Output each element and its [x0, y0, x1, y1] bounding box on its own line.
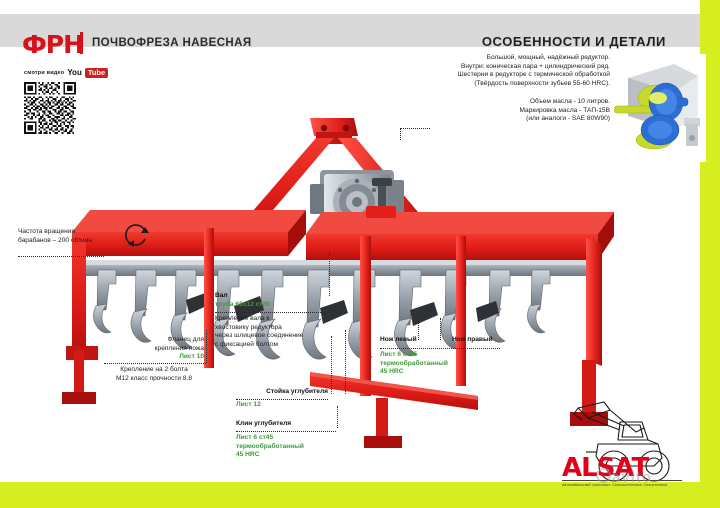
- callout-knife-left-label: Нож левый: [380, 336, 417, 345]
- leader-line-stand: [236, 399, 328, 400]
- brand-logo-frn: ФРН: [22, 32, 83, 57]
- callout-wedge: Клин углубителя: [236, 420, 340, 429]
- callout-knife-spec: Лист 6 ст45 термообработанный 45 HRC: [380, 351, 490, 377]
- callout-gearbox: Большой, мощный, надёжный редуктор. Внут…: [380, 54, 610, 88]
- gearbox-cutaway-image: [614, 54, 706, 162]
- callout-knife-right-label: Нож правый: [452, 336, 493, 345]
- callout-wedge-spec2: термообработанный: [236, 443, 346, 452]
- callout-shaft-body3: через шлицевое соединение: [215, 332, 333, 341]
- callout-knife-spec2: термообработанный: [380, 360, 490, 369]
- callout-flange-line2: крепления ножа: [112, 345, 204, 354]
- leader-line-wedge: [236, 431, 336, 432]
- callout-flange: Фланец для крепления ножа Лист 10: [112, 336, 204, 362]
- leader-line-shaft: [215, 312, 327, 313]
- leader-line-knife-vert2: [440, 318, 441, 340]
- callout-knife-spec1: Лист 6 ст45: [380, 351, 490, 360]
- leader-line-oil: [400, 128, 430, 129]
- callout-wedge-spec3: 45 HRC: [236, 451, 346, 460]
- avito-watermark-text: avito: [612, 469, 652, 486]
- callout-gearbox-line1: Большой, мощный, надёжный редуктор.: [380, 54, 610, 63]
- callout-rotation-speed: Частота вращения барабанов – 200 об/мин: [18, 228, 122, 245]
- callout-stand-spec: Лист 12: [236, 401, 332, 410]
- callout-rotation-line1: Частота вращения: [18, 228, 122, 237]
- leader-line-stand-vert: [331, 336, 332, 394]
- youtube-you-text: You: [67, 69, 82, 77]
- callout-oil-line1: Объем масла - 10 литров.: [400, 98, 610, 107]
- youtube-label-row: смотри видео You Tube: [24, 68, 108, 78]
- callout-wedge-title: Клин углубителя: [236, 420, 340, 429]
- callout-shaft: Вал труба 68х12 ст20: [215, 292, 331, 309]
- leader-line-flange-vert: [206, 330, 207, 363]
- avito-watermark: avito: [596, 468, 652, 486]
- page-header: ФРН ПОЧВОФРЕЗА НАВЕСНАЯ ОСОБЕННОСТИ И ДЕ…: [0, 14, 700, 47]
- callout-shaft-spec: труба 68х12 ст20: [215, 301, 331, 310]
- callout-stand-title: Стойка углубителя: [232, 388, 328, 397]
- callout-gearbox-line4: (Твёрдость поверхности зубьев 55-60 HRC)…: [380, 80, 610, 89]
- youtube-tube-badge: Tube: [85, 68, 108, 78]
- leader-line-knife-vert1: [418, 320, 419, 340]
- page-title: ОСОБЕННОСТИ И ДЕТАЛИ: [482, 35, 666, 49]
- callout-oil-line2: Маркировка масла - ТАП-15В: [400, 107, 610, 116]
- callout-gearbox-line2: Внутри: коническая пара + цилиндрический…: [380, 63, 610, 72]
- header-divider: [80, 32, 83, 54]
- callout-flange-line1: Фланец для: [112, 336, 204, 345]
- callout-flange-spec: Лист 10: [112, 353, 204, 362]
- callout-gearbox-line3: Шестерни в редукторе с термической обраб…: [380, 71, 610, 80]
- leader-line-rotation: [18, 256, 104, 257]
- callout-oil-line3: (или аналоги - SAE 80W90): [400, 115, 610, 124]
- rotation-arrow-icon: [124, 222, 150, 248]
- callout-stand: Стойка углубителя: [232, 388, 328, 397]
- product-info-page: ФРН ПОЧВОФРЕЗА НАВЕСНАЯ ОСОБЕННОСТИ И ДЕ…: [0, 0, 720, 508]
- leader-line-stand-vert2: [345, 330, 346, 394]
- callout-bolts-line2: М12 класс прочности 8.8: [88, 375, 220, 384]
- leader-line-flange: [104, 363, 206, 364]
- leader-line-knife: [380, 348, 500, 349]
- leader-line-wedge-vert: [337, 406, 338, 428]
- callout-wedge-spec: Лист 6 ст45 термообработанный 45 HRC: [236, 434, 346, 460]
- callout-shaft-body2: хвостовику редуктора: [215, 324, 333, 333]
- callout-shaft-title: Вал: [215, 292, 331, 301]
- callout-oil: Объем масла - 10 литров. Маркировка масл…: [400, 98, 610, 124]
- leader-line-oil-vert: [400, 128, 401, 140]
- callout-rotation-line2: барабанов – 200 об/мин: [18, 237, 122, 246]
- callout-knife-spec3: 45 HRC: [380, 368, 490, 377]
- callout-shaft-body1: Крепление вала к: [215, 315, 333, 324]
- leader-line-shaft-vert: [329, 252, 330, 296]
- callout-bolts-line1: Крепление на 2 болта: [88, 366, 220, 375]
- callout-wedge-spec1: Лист 6 ст45: [236, 434, 346, 443]
- header-subtitle: ПОЧВОФРЕЗА НАВЕСНАЯ: [92, 37, 251, 49]
- avito-watermark-icon: [596, 468, 611, 483]
- callout-shaft-body4: с фиксацией болтом: [215, 341, 333, 350]
- watch-video-label: смотри видео: [24, 70, 64, 76]
- callout-shaft-body: Крепление вала к хвостовику редуктора че…: [215, 315, 333, 349]
- rotary-tiller-illustration: АЛЬЯНС: [58, 110, 618, 450]
- callout-stand-spec-wrap: Лист 12: [236, 401, 332, 410]
- callout-bolts: Крепление на 2 болта М12 класс прочности…: [88, 366, 220, 383]
